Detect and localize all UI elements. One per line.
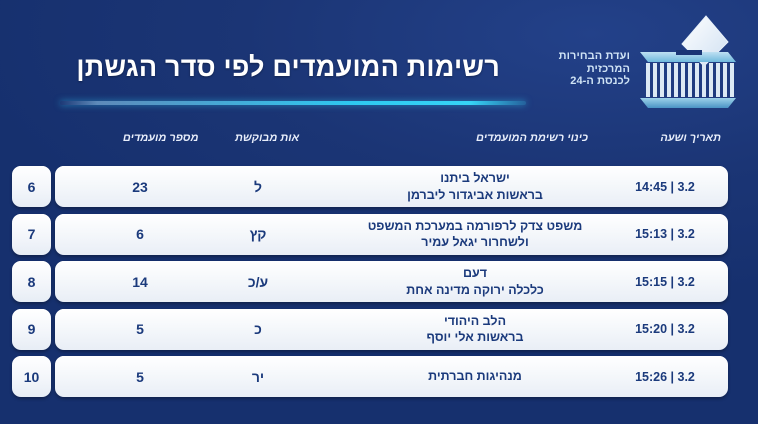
cell-count: 5 bbox=[110, 309, 170, 350]
table-row[interactable]: 5 יר מנהיגות חברתית 15:26 | 3.2 10 bbox=[0, 353, 758, 401]
row-card[interactable]: 6 קץ משפט צדק לרפורמה במערכת המשפט ולשחר… bbox=[55, 214, 728, 255]
list-name-sub: כלכלה ירוקה מדינה אחת bbox=[406, 282, 544, 299]
list-name-main: ישראל ביתנו bbox=[440, 170, 510, 187]
page-title: רשימות המועמדים לפי סדר הגשתן bbox=[76, 52, 500, 83]
column-header-name: כינוי רשימת המועמדים bbox=[476, 132, 588, 144]
table-row[interactable]: 23 ל ישראל ביתנו בראשות אביגדור ליברמן 1… bbox=[0, 163, 758, 211]
logo-line-3: לכנסת ה-24 bbox=[538, 75, 630, 88]
column-header-letter: אות מבוקשת bbox=[235, 132, 299, 144]
cell-datetime: 15:26 | 3.2 bbox=[620, 356, 710, 397]
cell-list-name: משפט צדק לרפורמה במערכת המשפט ולשחרור יג… bbox=[315, 214, 635, 255]
cell-letter: יר bbox=[228, 356, 288, 397]
cell-datetime: 15:15 | 3.2 bbox=[620, 261, 710, 302]
row-index-badge: 6 bbox=[12, 166, 51, 207]
title-underline bbox=[60, 101, 526, 105]
row-card[interactable]: 5 יר מנהיגות חברתית 15:26 | 3.2 bbox=[55, 356, 728, 397]
list-name-sub: בראשות אלי יוסף bbox=[427, 329, 524, 346]
list-name-main: דעם bbox=[463, 265, 487, 282]
table-row[interactable]: 5 כ הלב היהודי בראשות אלי יוסף 15:20 | 3… bbox=[0, 306, 758, 354]
row-card[interactable]: 14 ע/כ דעם כלכלה ירוקה מדינה אחת 15:15 |… bbox=[55, 261, 728, 302]
logo-line-2: המרכזית bbox=[538, 63, 630, 76]
cell-list-name: דעם כלכלה ירוקה מדינה אחת bbox=[335, 261, 615, 302]
cell-count: 5 bbox=[110, 356, 170, 397]
cell-letter: ע/כ bbox=[228, 261, 288, 302]
cell-count: 23 bbox=[110, 166, 170, 207]
cell-letter: קץ bbox=[228, 214, 288, 255]
cell-datetime: 14:45 | 3.2 bbox=[620, 166, 710, 207]
list-name-sub: ולשחרור יגאל עמיר bbox=[421, 234, 528, 251]
cell-count: 14 bbox=[110, 261, 170, 302]
row-index-badge: 8 bbox=[12, 261, 51, 302]
table-row[interactable]: 6 קץ משפט צדק לרפורמה במערכת המשפט ולשחר… bbox=[0, 211, 758, 259]
column-header-datetime: תאריך ושעה bbox=[660, 132, 721, 144]
cell-letter: כ bbox=[228, 309, 288, 350]
cell-datetime: 15:13 | 3.2 bbox=[620, 214, 710, 255]
table-row[interactable]: 14 ע/כ דעם כלכלה ירוקה מדינה אחת 15:15 |… bbox=[0, 258, 758, 306]
logo-text: ועדת הבחירות המרכזית לכנסת ה-24 bbox=[538, 50, 630, 88]
table-header-row: מספר מועמדים אות מבוקשת כינוי רשימת המוע… bbox=[0, 132, 758, 154]
row-index-badge: 7 bbox=[12, 214, 51, 255]
row-index-badge: 10 bbox=[12, 356, 51, 397]
column-header-count: מספר מועמדים bbox=[123, 132, 199, 144]
cell-count: 6 bbox=[110, 214, 170, 255]
row-card[interactable]: 23 ל ישראל ביתנו בראשות אביגדור ליברמן 1… bbox=[55, 166, 728, 207]
row-card[interactable]: 5 כ הלב היהודי בראשות אלי יוסף 15:20 | 3… bbox=[55, 309, 728, 350]
table-body: 23 ל ישראל ביתנו בראשות אביגדור ליברמן 1… bbox=[0, 163, 758, 401]
election-results-graphic: ועדת הבחירות המרכזית לכנסת ה-24 bbox=[0, 0, 758, 424]
cell-datetime: 15:20 | 3.2 bbox=[620, 309, 710, 350]
list-name-main: מנהיגות חברתית bbox=[428, 368, 522, 385]
list-name-main: משפט צדק לרפורמה במערכת המשפט bbox=[368, 218, 583, 235]
logo-line-1: ועדת הבחירות bbox=[538, 50, 630, 63]
list-name-main: הלב היהודי bbox=[444, 313, 506, 330]
ballot-box-icon bbox=[624, 10, 744, 114]
row-index-badge: 9 bbox=[12, 309, 51, 350]
cell-letter: ל bbox=[228, 166, 288, 207]
cell-list-name: מנהיגות חברתית bbox=[335, 356, 615, 397]
list-name-sub: בראשות אביגדור ליברמן bbox=[407, 187, 543, 204]
cell-list-name: ישראל ביתנו בראשות אביגדור ליברמן bbox=[335, 166, 615, 207]
cell-list-name: הלב היהודי בראשות אלי יוסף bbox=[335, 309, 615, 350]
committee-logo: ועדת הבחירות המרכזית לכנסת ה-24 bbox=[528, 6, 744, 118]
